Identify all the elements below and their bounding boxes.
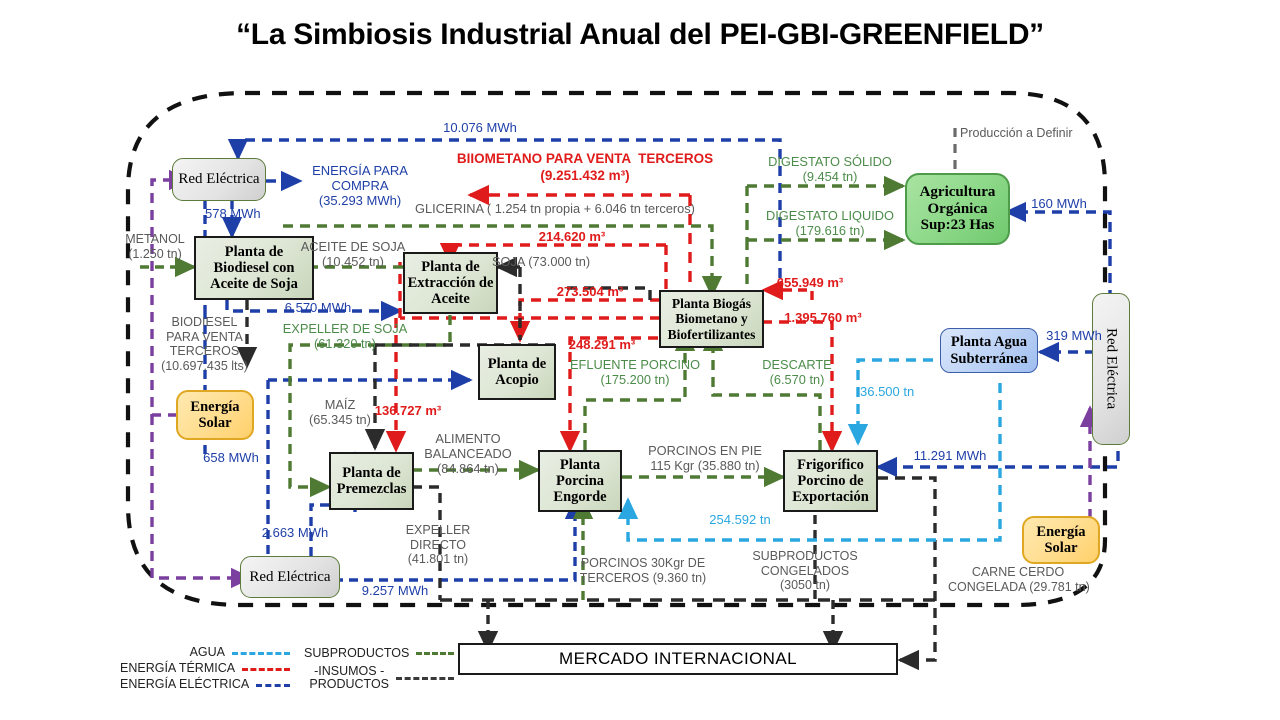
node-label: Frigorífico Porcino de Exportación: [785, 457, 876, 506]
label-produccion-a-definir: Producción a Definir: [960, 126, 1100, 141]
legend-item-agua: AGUA: [120, 645, 290, 661]
label-expeller-de-soja: EXPELLER DE SOJA (61.320 tn): [280, 322, 410, 352]
node-label: Planta Agua Subterránea: [941, 334, 1037, 366]
legend-item-insumos-productos: -INSUMOS - PRODUCTOS: [304, 662, 454, 694]
legend-swatch-termica: [242, 668, 290, 671]
legend-label: ENERGÍA TÉRMICA: [120, 662, 242, 675]
legend-item-energia-termica: ENERGÍA TÉRMICA: [120, 661, 290, 677]
label-aceite-de-soja: ACEITE DE SOJA (10.452 tn): [298, 240, 408, 270]
node-mercado-internacional[interactable]: MERCADO INTERNACIONAL: [458, 643, 898, 675]
label-2663-mwh: 2.663 MWh: [254, 525, 336, 540]
node-planta-premezclas[interactable]: Planta de Premezclas: [329, 452, 414, 510]
node-label: Planta Biogás Biometano y Biofertilizant…: [661, 296, 762, 341]
label-biometano-venta-valor: (9.251.432 m³): [440, 168, 730, 184]
node-label: Planta Porcina Engorde: [540, 457, 620, 506]
label-porcinos-terceros: PORCINOS 30Kgr DE TERCEROS (9.360 tn): [578, 556, 708, 585]
node-label: MERCADO INTERNACIONAL: [559, 649, 797, 668]
label-digestato-solido: DIGESTATO SÓLIDO (9.454 tn): [760, 155, 900, 185]
node-label: Agricultura Orgánica Sup:23 Has: [907, 184, 1008, 234]
node-label: Energía Solar: [178, 399, 252, 431]
node-label: Planta de Extracción de Aceite: [405, 259, 496, 308]
label-319-mwh: 319 MWh: [1038, 328, 1110, 343]
label-160-mwh: 160 MWh: [1022, 196, 1096, 211]
node-planta-extraccion[interactable]: Planta de Extracción de Aceite: [403, 252, 498, 314]
legend-label: SUBPRODUCTOS: [304, 647, 416, 660]
legend-swatch-electrica: [256, 684, 290, 687]
legend-label: AGUA: [190, 646, 232, 659]
label-soja: SOJA (73.000 tn): [492, 255, 612, 270]
label-11291-mwh: 11.291 MWh: [900, 448, 1000, 463]
node-planta-porcina-engorde[interactable]: Planta Porcina Engorde: [538, 450, 622, 512]
node-planta-biodiesel[interactable]: Planta de Biodiesel con Aceite de Soja: [194, 236, 314, 300]
label-glicerina: GLICERINA ( 1.254 tn propia + 6.046 tn t…: [410, 202, 700, 217]
node-red-electrica-bottom[interactable]: Red Eléctrica: [240, 556, 340, 598]
label-658-mwh: 658 MWh: [192, 450, 270, 465]
label-254592-tn: 254.592 tn: [690, 512, 790, 527]
label-alimento-balanceado: ALIMENTO BALANCEADO (84.864 tn): [408, 432, 528, 477]
node-agricultura-organica[interactable]: Agricultura Orgánica Sup:23 Has: [905, 173, 1010, 245]
node-label: Red Eléctrica: [178, 171, 259, 188]
label-porcinos-en-pie: PORCINOS EN PIE 115 Kgr (35.880 tn): [640, 444, 770, 474]
legend-item-energia-electrica: ENERGÍA ELÉCTRICA: [120, 677, 290, 693]
node-label: Energía Solar: [1024, 524, 1098, 556]
legend: AGUA ENERGÍA TÉRMICA ENERGÍA ELÉCTRICA S…: [120, 645, 450, 694]
node-label: Planta de Biodiesel con Aceite de Soja: [196, 244, 312, 293]
node-label: Planta de Acopio: [480, 356, 554, 388]
label-1395760-m3: 1.395.760 m³: [768, 310, 878, 325]
legend-swatch-agua: [232, 652, 290, 655]
node-planta-biogas[interactable]: Planta Biogás Biometano y Biofertilizant…: [659, 290, 764, 348]
label-efluente-porcino: EFLUENTE PORCINO (175.200 tn): [570, 358, 700, 388]
label-6570-mwh: 6.570 MWh: [268, 300, 368, 315]
label-273504-m3: 273.504 m³: [540, 284, 640, 299]
label-10076-mwh: 10.076 MWh: [410, 120, 550, 135]
node-red-electrica-right[interactable]: Red Eléctrica: [1092, 293, 1130, 445]
diagram-canvas: “La Simbiosis Industrial Anual del PEI-G…: [0, 0, 1280, 720]
label-248291-m3: 248.291 m³: [552, 337, 652, 352]
label-energia-para-compra: ENERGÍA PARA COMPRA (35.293 MWh): [295, 163, 425, 208]
node-label: Planta de Premezclas: [331, 465, 412, 497]
node-label: Red Eléctrica: [249, 569, 330, 586]
legend-swatch-insumos: [396, 677, 454, 680]
label-metanol: METANOL (1.250 tn): [112, 232, 198, 261]
node-energia-solar-right[interactable]: Energía Solar: [1022, 516, 1100, 564]
label-biodiesel-venta-terceros: BIODIESEL PARA VENTA TERCEROS (10.697.43…: [152, 315, 257, 373]
label-36500-tn: 36.500 tn: [860, 384, 940, 399]
label-9257-mwh: 9.257 MWh: [340, 583, 450, 598]
label-136727-m3: 136.727 m³: [358, 403, 458, 418]
node-energia-solar-left[interactable]: Energía Solar: [176, 390, 254, 440]
label-subproductos-congelados: SUBPRODUCTOS CONGELADOS (3050 tn): [742, 549, 868, 593]
legend-item-subproductos: SUBPRODUCTOS: [304, 645, 454, 662]
legend-swatch-subproductos: [416, 652, 454, 655]
legend-label: -INSUMOS - PRODUCTOS: [309, 665, 396, 691]
label-214620-m3: 214.620 m³: [522, 229, 622, 244]
node-frigorifico-porcino[interactable]: Frigorífico Porcino de Exportación: [783, 450, 878, 512]
label-655949-m3: 655.949 m³: [760, 275, 860, 290]
node-red-electrica-top[interactable]: Red Eléctrica: [172, 158, 266, 201]
label-expeller-directo: EXPELLER DIRECTO (41.801 tn): [392, 523, 484, 567]
label-biometano-venta: BIIOMETANO PARA VENTA TERCEROS: [440, 151, 730, 167]
label-carne-cerdo: CARNE CERDO CONGELADA (29.781 tn): [948, 565, 1088, 594]
node-planta-agua-subterranea[interactable]: Planta Agua Subterránea: [940, 328, 1038, 373]
label-digestato-liquido: DIGESTATO LIQUIDO (179.616 tn): [760, 209, 900, 239]
node-planta-acopio[interactable]: Planta de Acopio: [478, 344, 556, 400]
label-descarte: DESCARTE (6.570 tn): [750, 358, 844, 388]
label-578-mwh: 578 MWh: [205, 206, 283, 221]
legend-label: ENERGÍA ELÉCTRICA: [120, 678, 256, 691]
